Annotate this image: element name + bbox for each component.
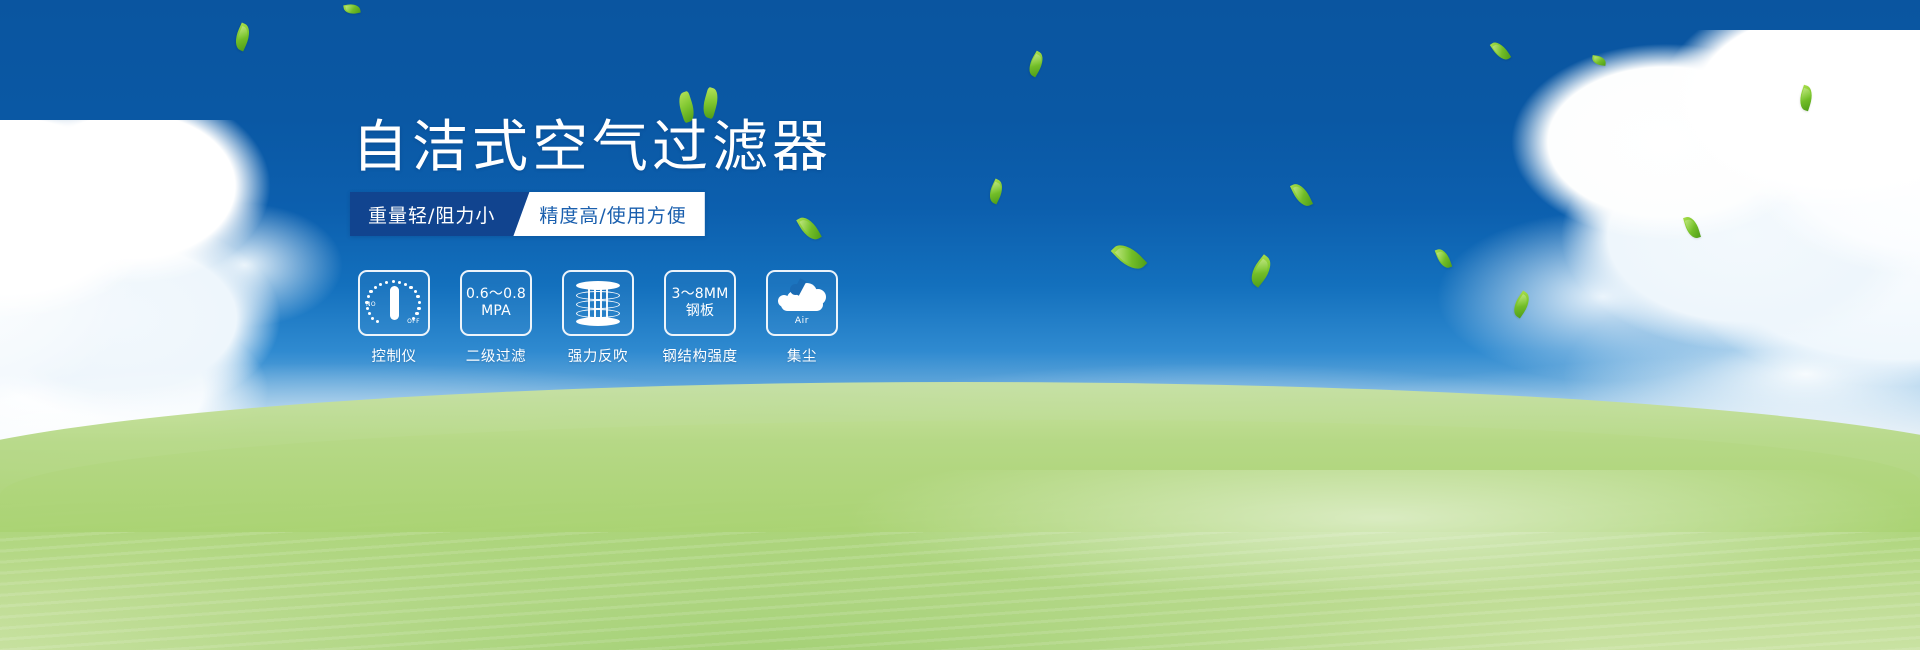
leaf-icon [986, 179, 1007, 205]
leaf-icon [1025, 51, 1047, 78]
feature-item-dust: Air 集尘 [766, 270, 838, 366]
feature-box: NO OFF [358, 270, 430, 336]
feature-item-steel: 3～8MM 钢板 钢结构强度 [664, 270, 736, 366]
control-dial-icon: NO OFF [367, 279, 421, 327]
dial-pointer [390, 286, 399, 320]
leaf-icon [343, 3, 360, 16]
dial-on-label: NO [366, 301, 376, 308]
feature-box: 0.6～0.8 MPA [460, 270, 532, 336]
feature-item-blowback: 强力反吹 [562, 270, 634, 366]
steel-thickness: 3～8MM [672, 286, 729, 303]
filter-cartridge-icon [576, 279, 620, 327]
feature-label: 二级过滤 [466, 345, 526, 366]
leaf-icon [1111, 239, 1148, 276]
steel-plate-text-icon: 3～8MM 钢板 [672, 286, 729, 319]
leaf-icon [796, 213, 822, 243]
feature-box: Air [766, 270, 838, 336]
feature-box [562, 270, 634, 336]
pressure-unit: MPA [466, 303, 526, 320]
steel-material: 钢板 [672, 303, 729, 320]
feature-item-pressure: 0.6～0.8 MPA 二级过滤 [460, 270, 532, 366]
tagline-bar: 重量轻/阻力小 精度高/使用方便 [350, 192, 705, 236]
feature-label: 强力反吹 [568, 345, 628, 366]
pressure-value: 0.6～0.8 [466, 286, 526, 303]
banner-hero: 自洁式空气过滤器 重量轻/阻力小 精度高/使用方便 [0, 0, 1920, 650]
feature-list: NO OFF 控制仪 0.6～0.8 MPA 二级过滤 [358, 270, 838, 366]
feature-item-control: NO OFF 控制仪 [358, 270, 430, 366]
grass-sun-glow [0, 470, 1920, 590]
pressure-text-icon: 0.6～0.8 MPA [466, 286, 526, 319]
feature-label: 控制仪 [371, 345, 416, 366]
page-title: 自洁式空气过滤器 [352, 116, 832, 180]
feature-label: 集尘 [787, 345, 817, 366]
dial-off-label: OFF [407, 318, 420, 325]
leaf-icon [231, 22, 253, 51]
feature-box: 3～8MM 钢板 [664, 270, 736, 336]
dust-cloud-icon [777, 281, 827, 315]
feature-label: 钢结构强度 [662, 345, 738, 366]
air-label: Air [795, 316, 809, 326]
tagline-secondary: 精度高/使用方便 [513, 192, 704, 236]
tagline-primary: 重量轻/阻力小 [350, 192, 529, 236]
